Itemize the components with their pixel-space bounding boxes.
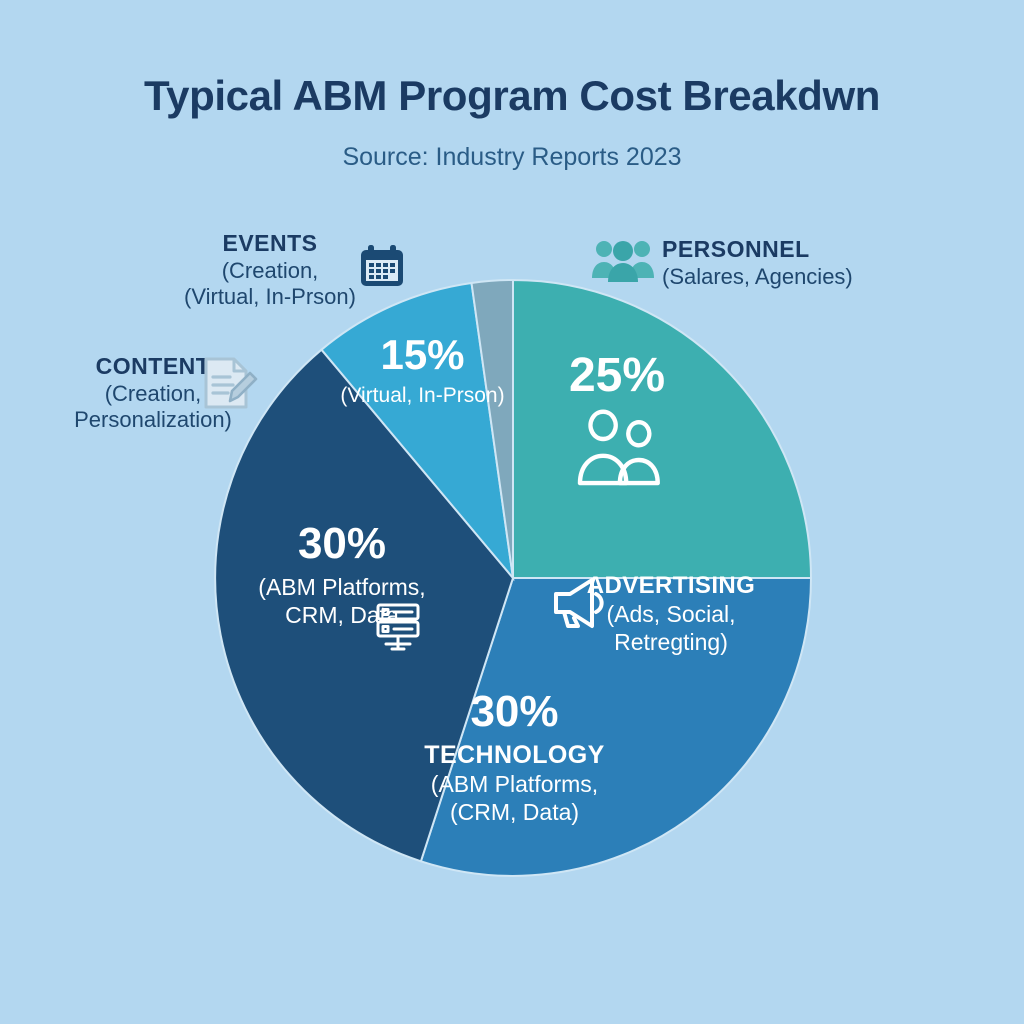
callout-personnel-line1: (Salares, Agencies) (662, 264, 922, 290)
pie-chart (0, 0, 1024, 1024)
callout-events-line1: (Creation, (170, 258, 370, 284)
callout-events: EVENTS (Creation, (Virtual, In-Prson) (170, 230, 370, 310)
people-group-icon (592, 238, 654, 282)
calendar-icon (358, 242, 406, 290)
document-pencil-icon (200, 355, 258, 413)
pie-slice-personnel[interactable] (513, 280, 811, 578)
chart-canvas: Typical ABM Program Cost Breakdwn Source… (0, 0, 1024, 1024)
callout-personnel: PERSONNEL (Salares, Agencies) (662, 236, 922, 290)
callout-personnel-name: PERSONNEL (662, 236, 922, 264)
callout-events-name: EVENTS (170, 230, 370, 258)
callout-events-line2: (Virtual, In-Prson) (170, 284, 370, 310)
